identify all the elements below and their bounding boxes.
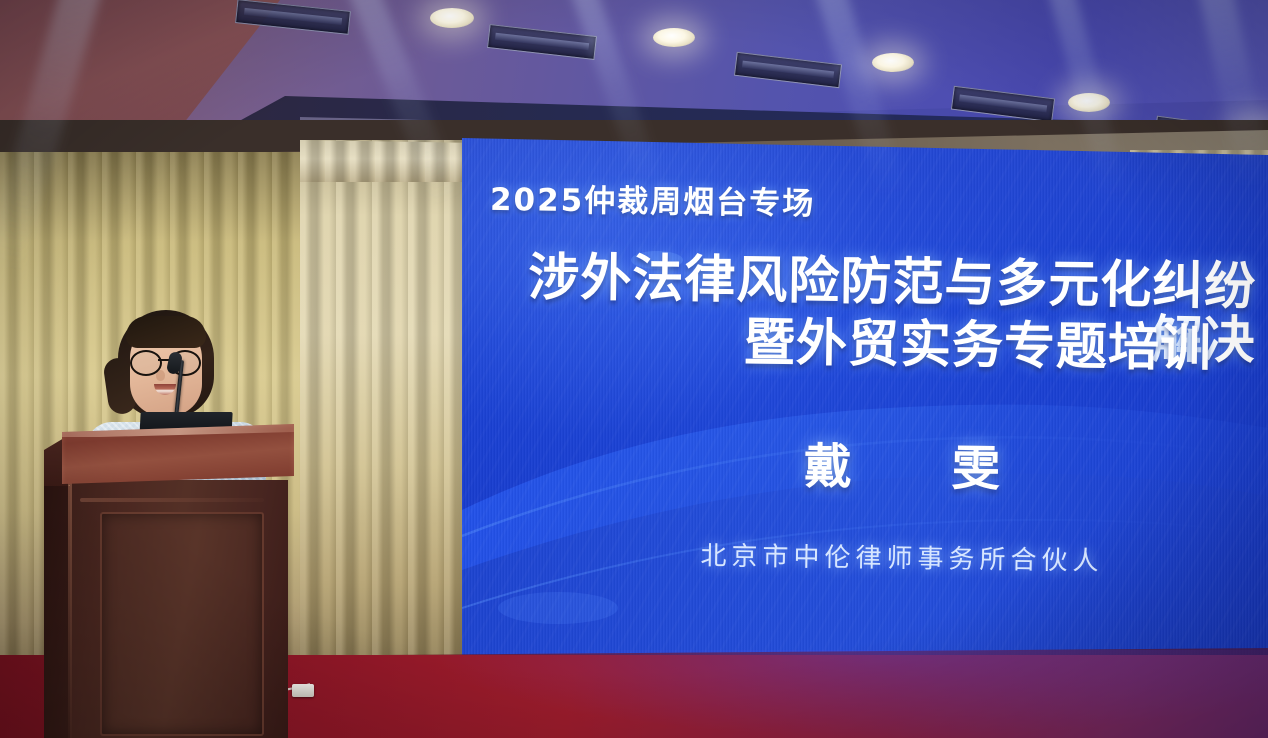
podium-groove — [80, 498, 264, 502]
conference-scene: 2025仲裁周烟台专场 涉外法律风险防范与多元化纠纷解决 暨外贸实务专题培训 戴… — [0, 0, 1268, 738]
slide-kicker: 2025仲裁周烟台专场 — [490, 174, 816, 223]
slide-title-line-2: 暨外贸实务专题培训 — [496, 313, 1213, 376]
slide-content: 2025仲裁周烟台专场 涉外法律风险防范与多元化纠纷解决 暨外贸实务专题培训 戴… — [462, 138, 1268, 668]
cable-plug — [292, 684, 314, 697]
led-display-screen: 2025仲裁周烟台专场 涉外法律风险防范与多元化纠纷解决 暨外贸实务专题培训 戴… — [462, 138, 1268, 668]
slide-speaker-name: 戴 雯 — [712, 426, 1093, 501]
podium-edge-highlight — [68, 480, 72, 738]
podium-front-panel — [100, 512, 264, 736]
stage-curtain-middle — [300, 140, 490, 680]
lens-left — [130, 350, 162, 376]
ceiling-downlight-2 — [653, 28, 695, 47]
ceiling-downlight-4 — [1068, 93, 1110, 112]
hair-fringe — [126, 316, 206, 348]
slide-speaker-affiliation: 北京市中伦律师事务所合伙人 — [642, 535, 1162, 579]
ceiling-downlight-3 — [872, 53, 914, 72]
podium — [44, 424, 294, 738]
ceiling-downlight-1 — [430, 8, 474, 28]
